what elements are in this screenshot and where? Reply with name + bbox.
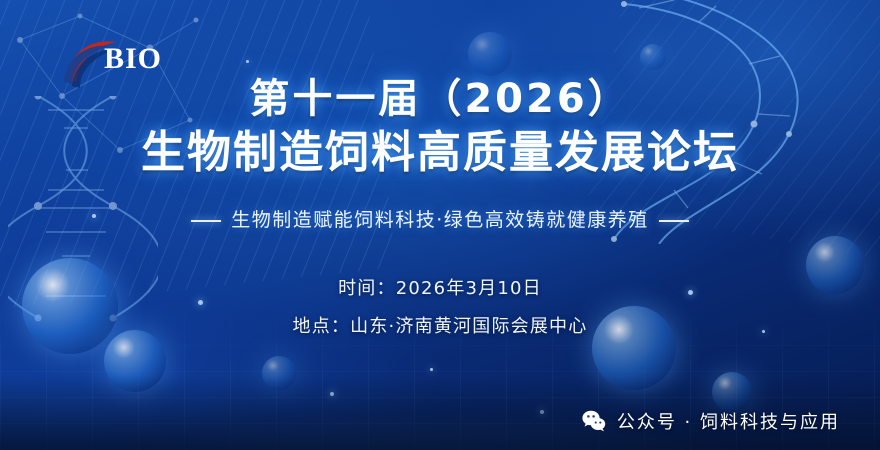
subtitle-dash-right: [659, 220, 689, 222]
sphere-decoration: [712, 372, 752, 412]
wechat-footer[interactable]: 公众号 · 饲料科技与应用: [581, 408, 840, 434]
wechat-label: 公众号 · 饲料科技与应用: [617, 408, 840, 434]
sphere-decoration: [640, 44, 666, 70]
particle-dot: [430, 368, 433, 371]
particle-dot: [330, 392, 334, 396]
title-line-2: 生物制造饲料高质量发展论坛: [0, 127, 880, 179]
subtitle-dash-left: [191, 220, 221, 222]
sphere-decoration: [262, 356, 296, 390]
event-meta: 时间：2026年3月10日 地点：山东·济南黄河国际会展中心: [0, 270, 880, 346]
particle-dot: [540, 410, 544, 414]
poster-canvas: BIO 第十一届（2026） 生物制造饲料高质量发展论坛 生物制造赋能饲料科技·…: [0, 0, 880, 450]
event-place: 地点：山东·济南黄河国际会展中心: [0, 308, 880, 346]
title-line-1: 第十一届（2026）: [0, 76, 880, 123]
subtitle: 生物制造赋能饲料科技·绿色高效铸就健康养殖: [0, 205, 880, 232]
particle-dot: [246, 60, 249, 63]
wechat-icon: [581, 408, 607, 434]
sphere-decoration: [468, 32, 512, 76]
event-time: 时间：2026年3月10日: [0, 270, 880, 308]
subtitle-text: 生物制造赋能饲料科技·绿色高效铸就健康养殖: [231, 209, 649, 231]
poster-content: 第十一届（2026） 生物制造饲料高质量发展论坛 生物制造赋能饲料科技·绿色高效…: [0, 76, 880, 346]
brand-logo-text: BIO: [104, 42, 162, 76]
